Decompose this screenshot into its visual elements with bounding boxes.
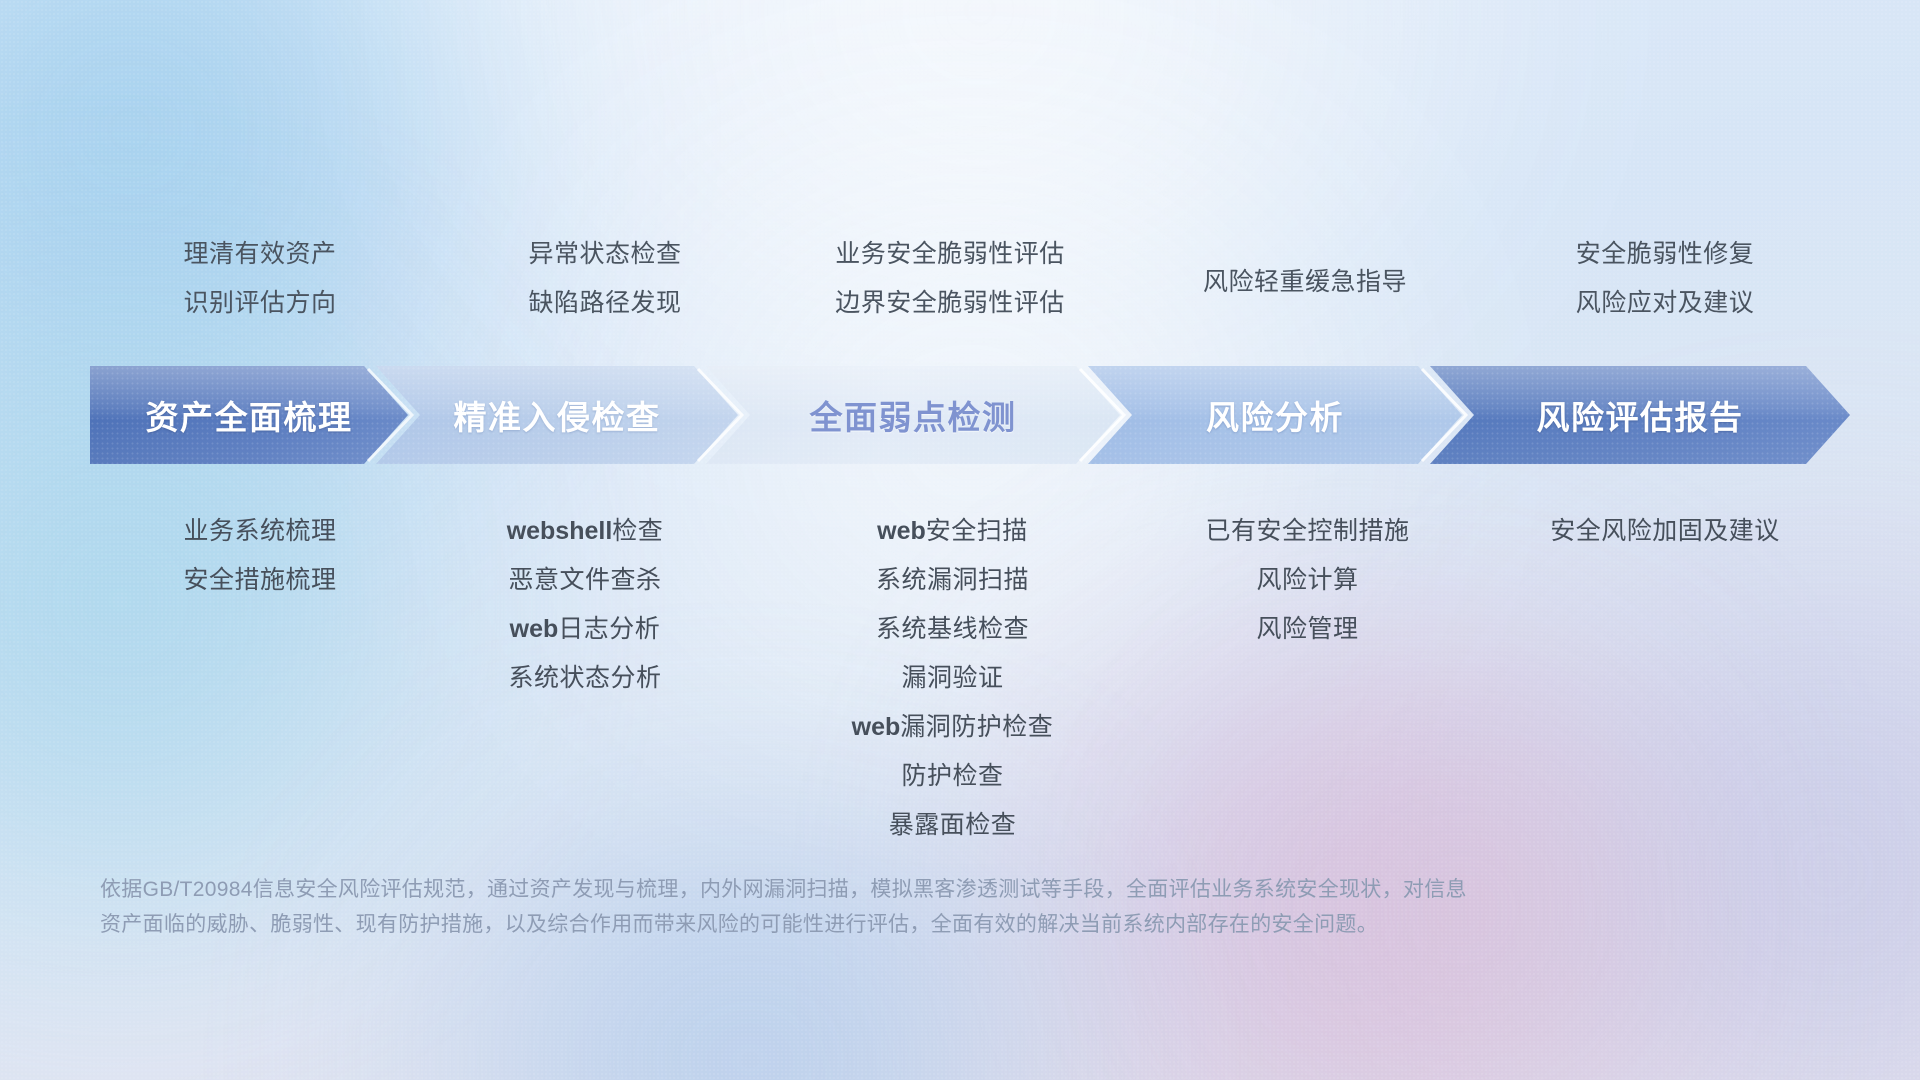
- stage-bottom-items-weakness-detection: web安全扫描 系统漏洞扫描 系统基线检查 漏洞验证 web漏洞防护检查 防护检…: [745, 507, 1160, 850]
- top-item: 异常状态检查: [435, 230, 775, 279]
- stage-top-items-asset-inventory: 理清有效资产 识别评估方向: [90, 230, 430, 328]
- bottom-item: 安全措施梳理: [90, 556, 430, 605]
- bottom-item-text: 已有安全控制措施: [1205, 517, 1409, 545]
- bottom-item: 风险计算: [1125, 556, 1490, 605]
- stage-top-items-risk-analysis: 风险轻重缓急指导: [1135, 258, 1475, 307]
- bottom-item-text: 恶意文件查杀: [508, 566, 661, 594]
- bottom-item: web日志分析: [400, 605, 770, 654]
- bottom-item: 安全风险加固及建议: [1465, 507, 1865, 556]
- footer-line: 资产面临的威胁、脆弱性、现有防护措施，以及综合作用而带来风险的可能性进行评估，全…: [100, 907, 1660, 942]
- bottom-item-text: 业务系统梳理: [183, 517, 336, 545]
- bottom-item: 业务系统梳理: [90, 507, 430, 556]
- chevron-stage-asset-inventory[interactable]: 资产全面梳理: [90, 366, 408, 464]
- bottom-item: 暴露面检查: [745, 801, 1160, 850]
- bottom-item-text: 暴露面检查: [889, 811, 1017, 839]
- footer-description: 依据GB/T20984信息安全风险评估规范，通过资产发现与梳理，内外网漏洞扫描，…: [100, 872, 1660, 942]
- bottom-item-lead: web: [852, 713, 901, 741]
- bottom-item-text: 安全风险加固及建议: [1550, 517, 1780, 545]
- top-item: 理清有效资产: [90, 230, 430, 279]
- bottom-item: webshell检查: [400, 507, 770, 556]
- bottom-item-text: 系统状态分析: [508, 664, 661, 692]
- process-chevron-banner: 资产全面梳理 精准入侵检查 全面弱点检测 风险分析 风险评估报告: [90, 366, 1850, 464]
- chevron-stage-label: 全面弱点检测: [810, 391, 1017, 439]
- bottom-item-text: 漏洞验证: [901, 664, 1003, 692]
- bottom-item-text: 风险计算: [1256, 566, 1358, 594]
- bottom-item: web安全扫描: [745, 507, 1160, 556]
- bottom-item: 防护检查: [745, 752, 1160, 801]
- chevron-stage-label: 风险评估报告: [1537, 391, 1744, 439]
- bottom-item: 系统基线检查: [745, 605, 1160, 654]
- bottom-item: 恶意文件查杀: [400, 556, 770, 605]
- chevron-stage-label: 风险分析: [1206, 391, 1344, 439]
- bottom-item-text: 漏洞防护检查: [900, 713, 1053, 741]
- top-item: 边界安全脆弱性评估: [770, 279, 1130, 328]
- bottom-item-text: 系统基线检查: [876, 615, 1029, 643]
- top-item: 风险应对及建议: [1495, 279, 1835, 328]
- stage-top-items-risk-report: 安全脆弱性修复 风险应对及建议: [1495, 230, 1835, 328]
- bottom-item: 已有安全控制措施: [1125, 507, 1490, 556]
- stage-bottom-items-asset-inventory: 业务系统梳理 安全措施梳理: [90, 507, 430, 605]
- bottom-item-text: 安全措施梳理: [183, 566, 336, 594]
- bottom-item: web漏洞防护检查: [745, 703, 1160, 752]
- bottom-item-text: 日志分析: [558, 615, 660, 643]
- top-item: 风险轻重缓急指导: [1135, 258, 1475, 307]
- bottom-item-lead: webshell: [507, 517, 613, 545]
- background-blob-blue-bottom: [300, 820, 1200, 1080]
- chevron-stage-label: 资产全面梳理: [146, 391, 353, 439]
- bottom-item: 系统漏洞扫描: [745, 556, 1160, 605]
- bottom-item: 漏洞验证: [745, 654, 1160, 703]
- bottom-item-text: 风险管理: [1256, 615, 1358, 643]
- bottom-item-lead: web: [877, 517, 926, 545]
- stage-top-items-intrusion-check: 异常状态检查 缺陷路径发现: [435, 230, 775, 328]
- slide-canvas: 理清有效资产 识别评估方向 异常状态检查 缺陷路径发现 业务安全脆弱性评估 边界…: [0, 0, 1920, 1080]
- bottom-item-text: 检查: [612, 517, 663, 545]
- chevron-stage-weakness-detection[interactable]: 全面弱点检测: [706, 366, 1120, 464]
- top-item: 识别评估方向: [90, 279, 430, 328]
- bottom-item-text: 安全扫描: [926, 517, 1028, 545]
- background-blob-violet-right: [1450, 520, 1920, 1080]
- top-item: 业务安全脆弱性评估: [770, 230, 1130, 279]
- stage-bottom-items-intrusion-check: webshell检查 恶意文件查杀 web日志分析 系统状态分析: [400, 507, 770, 703]
- bottom-item: 系统状态分析: [400, 654, 770, 703]
- footer-line: 依据GB/T20984信息安全风险评估规范，通过资产发现与梳理，内外网漏洞扫描，…: [100, 872, 1660, 907]
- stage-bottom-items-risk-report: 安全风险加固及建议: [1465, 507, 1865, 556]
- bottom-item-text: 系统漏洞扫描: [876, 566, 1029, 594]
- chevron-stage-risk-analysis[interactable]: 风险分析: [1088, 366, 1462, 464]
- chevron-stage-label: 精准入侵检查: [454, 391, 661, 439]
- chevron-stage-risk-report[interactable]: 风险评估报告: [1430, 366, 1850, 464]
- bottom-item-text: 防护检查: [901, 762, 1003, 790]
- top-item: 缺陷路径发现: [435, 279, 775, 328]
- top-item: 安全脆弱性修复: [1495, 230, 1835, 279]
- bottom-item: 风险管理: [1125, 605, 1490, 654]
- stage-top-items-weakness-detection: 业务安全脆弱性评估 边界安全脆弱性评估: [770, 230, 1130, 328]
- bottom-item-lead: web: [510, 615, 559, 643]
- chevron-stage-intrusion-check[interactable]: 精准入侵检查: [376, 366, 738, 464]
- stage-bottom-items-risk-analysis: 已有安全控制措施 风险计算 风险管理: [1125, 507, 1490, 654]
